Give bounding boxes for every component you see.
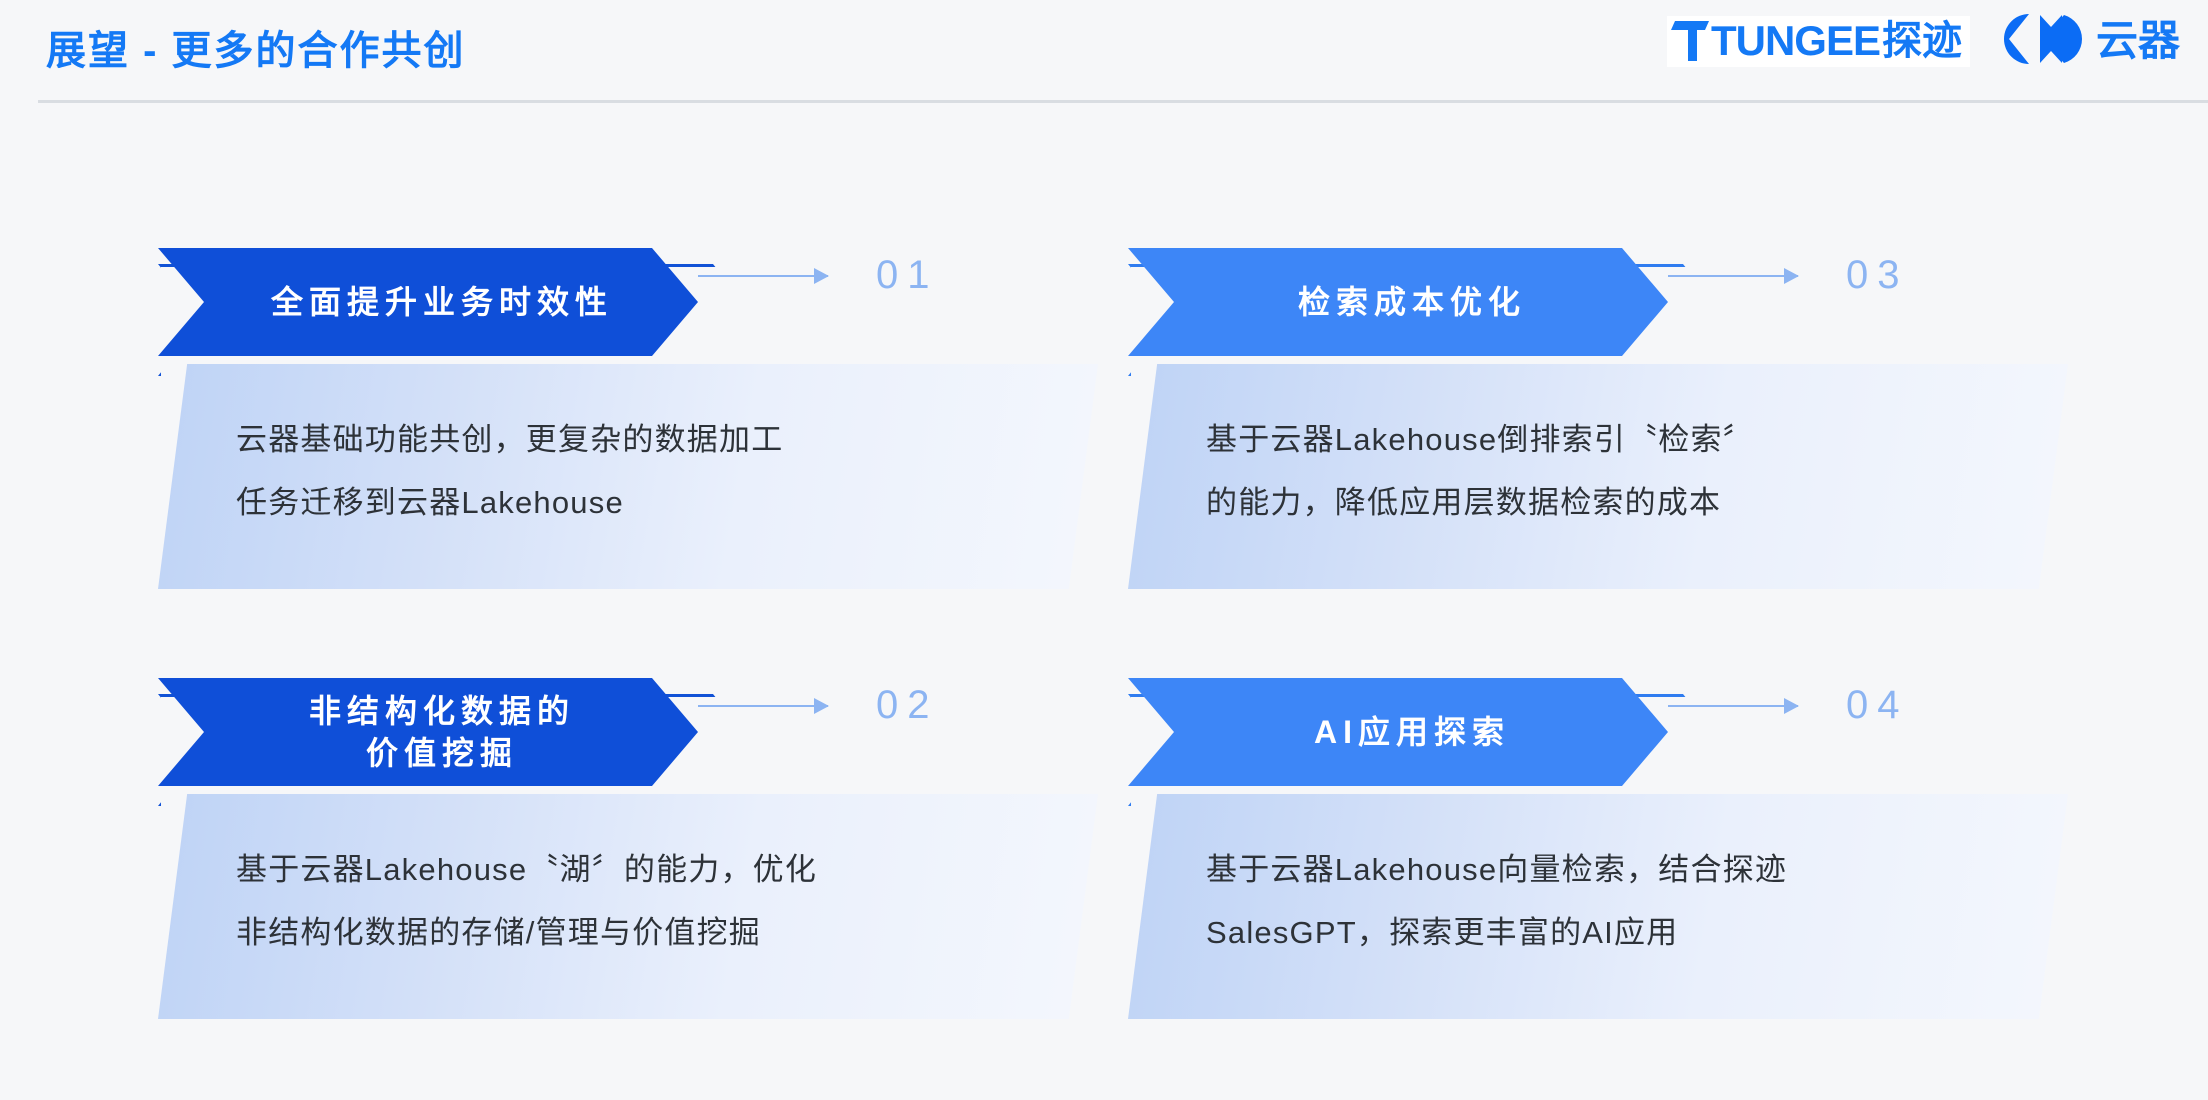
card-02-arrow-icon: [698, 705, 828, 707]
card-04-chevron[interactable]: AI应用探索: [1128, 678, 1668, 786]
logo-group: TUNGEE 探迹 云器: [1667, 12, 2180, 70]
card-01-number: 01: [876, 253, 939, 298]
yunqi-logo: 云器: [2004, 14, 2180, 69]
header-divider: [38, 100, 2208, 103]
slide-header: 展望 - 更多的合作共创 TUNGEE 探迹 云器: [0, 0, 2208, 104]
card-01-arrow-icon: [698, 275, 828, 277]
card-02-chevron[interactable]: 非结构化数据的 价值挖掘: [158, 678, 698, 786]
tungee-logo: TUNGEE 探迹: [1667, 16, 1970, 67]
card-03-body-panel: 基于云器Lakehouse倒排索引〝检索〞 的能力，降低应用层数据检索的成本: [1128, 364, 2068, 589]
card-04-body-panel: 基于云器Lakehouse向量检索，结合探迹 SalesGPT，探索更丰富的AI…: [1128, 794, 2068, 1019]
tungee-cn-label: 探迹: [1882, 19, 1962, 63]
tungee-mark-icon: [1675, 21, 1709, 61]
card-04-body-text: 基于云器Lakehouse向量检索，结合探迹 SalesGPT，探索更丰富的AI…: [1206, 838, 2026, 964]
card-02-body-text: 基于云器Lakehouse〝湖〞的能力，优化 非结构化数据的存储/管理与价值挖掘: [236, 838, 1056, 964]
page-title: 展望 - 更多的合作共创: [46, 18, 466, 76]
card-03-title: 检索成本优化: [1270, 281, 1526, 323]
card-02-body-panel: 基于云器Lakehouse〝湖〞的能力，优化 非结构化数据的存储/管理与价值挖掘: [158, 794, 1098, 1019]
card-04-number: 04: [1846, 683, 1909, 728]
card-03-arrow-icon: [1668, 275, 1798, 277]
card-02-number: 02: [876, 683, 939, 728]
card-01-title: 全面提升业务时效性: [243, 281, 613, 323]
yunqi-cn-label: 云器: [2096, 19, 2180, 63]
card-02-title: 非结构化数据的 价值挖掘: [281, 690, 575, 774]
tungee-wordmark: TUNGEE: [1711, 19, 1880, 63]
card-01-chevron[interactable]: 全面提升业务时效性: [158, 248, 698, 356]
card-03-chevron[interactable]: 检索成本优化: [1128, 248, 1668, 356]
card-04-arrow-icon: [1668, 705, 1798, 707]
card-04-title: AI应用探索: [1286, 711, 1510, 753]
yunqi-mark-icon: [2004, 14, 2086, 69]
card-01-body-text: 云器基础功能共创，更复杂的数据加工 任务迁移到云器Lakehouse: [236, 408, 1056, 534]
card-03-body-text: 基于云器Lakehouse倒排索引〝检索〞 的能力，降低应用层数据检索的成本: [1206, 408, 2026, 534]
card-01-body-panel: 云器基础功能共创，更复杂的数据加工 任务迁移到云器Lakehouse: [158, 364, 1098, 589]
card-03-number: 03: [1846, 253, 1909, 298]
